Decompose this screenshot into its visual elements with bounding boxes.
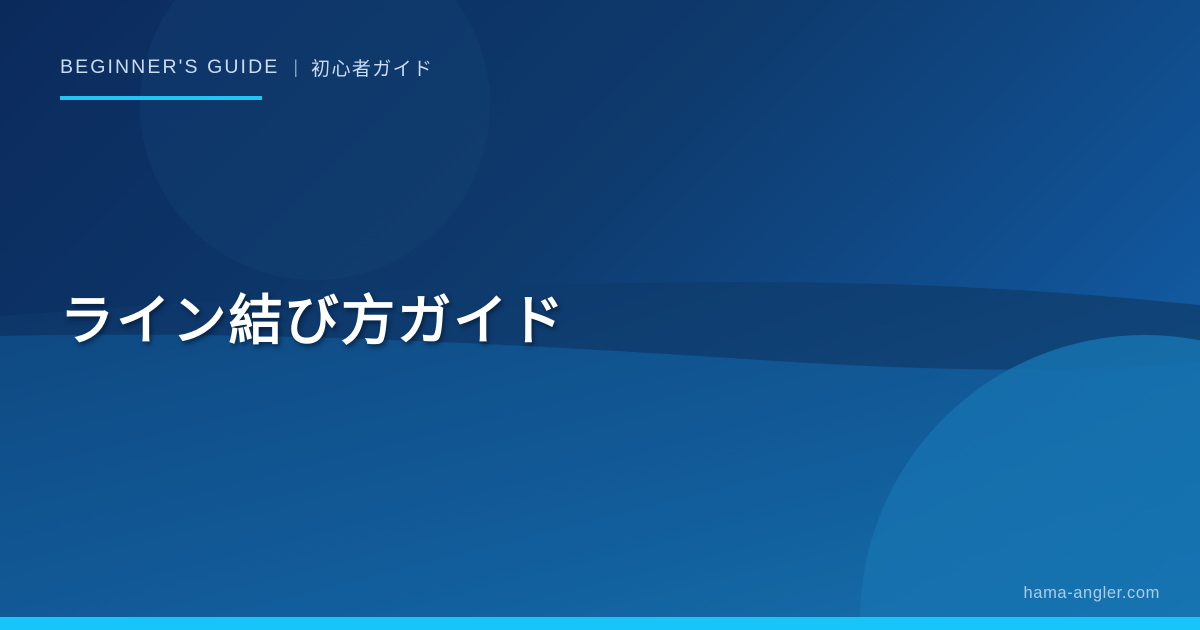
eyebrow-block: BEGINNER'S GUIDE | 初心者ガイド <box>60 52 433 100</box>
site-watermark: hama-angler.com <box>1024 584 1160 603</box>
eyebrow-separator: | <box>293 57 298 78</box>
eyebrow-label-ja: 初心者ガイド <box>311 54 433 81</box>
page-title: ライン結び方ガイド <box>60 290 566 354</box>
eyebrow-row: BEGINNER'S GUIDE | 初心者ガイド <box>60 52 433 82</box>
eyebrow-underline-bar <box>60 96 262 100</box>
decorative-circle-top-left <box>140 0 490 280</box>
eyebrow-label-en: BEGINNER'S GUIDE <box>60 56 279 79</box>
banner-card: BEGINNER'S GUIDE | 初心者ガイド ライン結び方ガイド hama… <box>0 0 1200 630</box>
bottom-accent-bar <box>0 617 1200 630</box>
